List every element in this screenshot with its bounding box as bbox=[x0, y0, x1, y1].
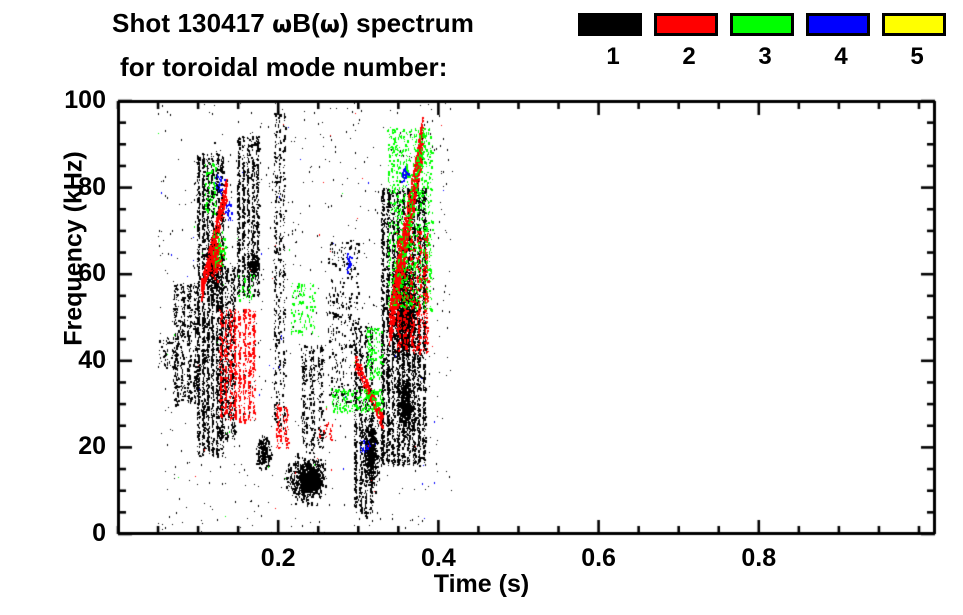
y-tick-label-0: 0 bbox=[36, 519, 106, 548]
legend-swatch-mode-4 bbox=[806, 13, 870, 36]
legend-swatch-mode-2 bbox=[654, 13, 718, 36]
legend-item-mode-5: 5 bbox=[882, 13, 952, 70]
legend-swatch-mode-3 bbox=[730, 13, 794, 36]
y-tick-label-100: 100 bbox=[36, 86, 106, 115]
legend-label-mode-5: 5 bbox=[882, 44, 952, 70]
x-tick-label-0.6: 0.6 bbox=[554, 544, 644, 573]
y-tick-label-20: 20 bbox=[36, 432, 106, 461]
x-tick-label-0.4: 0.4 bbox=[393, 544, 483, 573]
legend-swatch-mode-1 bbox=[578, 13, 642, 36]
y-tick-label-80: 80 bbox=[36, 173, 106, 202]
figure-title-line-1: Shot 130417 ωB(ω) spectrum bbox=[112, 8, 474, 39]
legend-item-mode-3: 3 bbox=[730, 13, 800, 70]
title-suffix: ) spectrum bbox=[340, 8, 474, 38]
legend-item-mode-4: 4 bbox=[806, 13, 876, 70]
legend: 12345 bbox=[578, 13, 963, 91]
legend-swatch-mode-5 bbox=[882, 13, 946, 36]
title-mid: B( bbox=[292, 8, 320, 38]
figure-title-line-2: for toroidal mode number: bbox=[120, 52, 448, 83]
omega-symbol-2: ω bbox=[320, 12, 340, 38]
x-tick-label-0.8: 0.8 bbox=[714, 544, 804, 573]
title-prefix: Shot 130417 bbox=[112, 8, 272, 38]
x-axis-label: Time (s) bbox=[0, 570, 963, 599]
x-tick-label-0.2: 0.2 bbox=[233, 544, 323, 573]
legend-label-mode-4: 4 bbox=[806, 44, 876, 70]
spectrogram-canvas bbox=[118, 101, 935, 534]
legend-item-mode-1: 1 bbox=[578, 13, 648, 70]
y-tick-label-40: 40 bbox=[36, 346, 106, 375]
plot-area bbox=[118, 101, 935, 534]
spectrogram-figure: Shot 130417 ωB(ω) spectrum for toroidal … bbox=[0, 0, 963, 615]
legend-label-mode-2: 2 bbox=[654, 44, 724, 70]
y-tick-label-60: 60 bbox=[36, 259, 106, 288]
legend-item-mode-2: 2 bbox=[654, 13, 724, 70]
legend-label-mode-1: 1 bbox=[578, 44, 648, 70]
omega-symbol-1: ω bbox=[272, 12, 292, 38]
y-axis-label: Frequency (kHz) bbox=[60, 119, 89, 379]
legend-label-mode-3: 3 bbox=[730, 44, 800, 70]
